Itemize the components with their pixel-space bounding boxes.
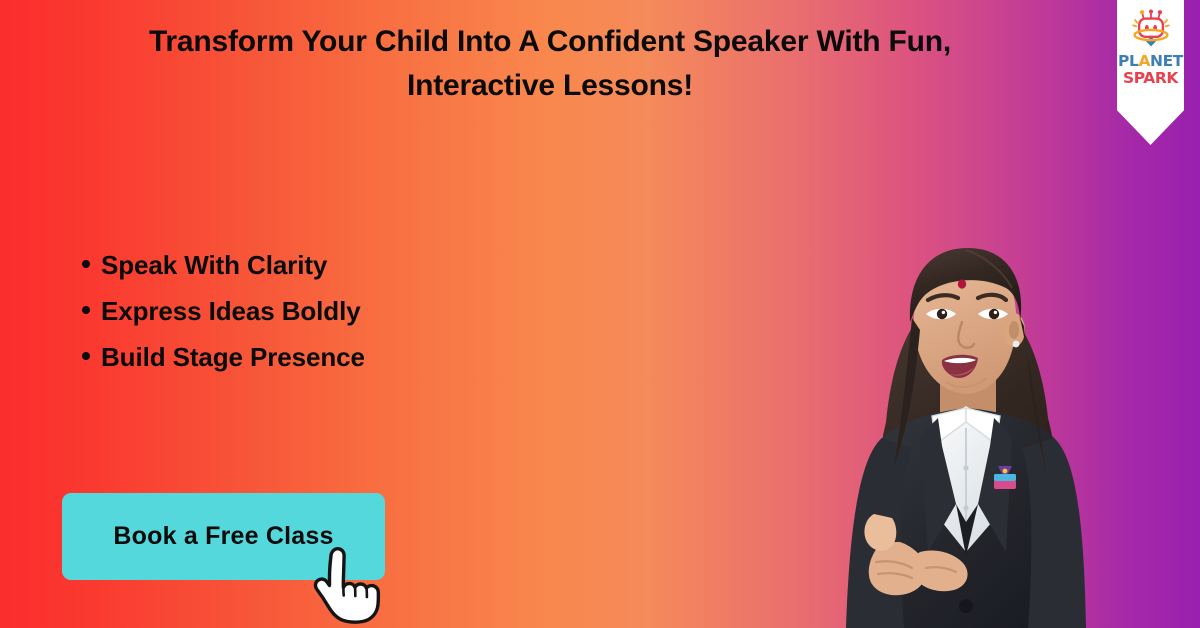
list-item: Express Ideas Boldly <box>82 288 365 334</box>
bullet-dot-icon <box>82 260 90 268</box>
headline-line-1: Transform Your Child Into A Confident Sp… <box>40 20 1060 64</box>
list-item: Build Stage Presence <box>82 334 365 380</box>
promo-banner: Transform Your Child Into A Confident Sp… <box>0 0 1200 628</box>
page-title: Transform Your Child Into A Confident Sp… <box>40 20 1060 108</box>
child-speaker-photo <box>816 222 1120 628</box>
planetspark-logo-ribbon[interactable]: PLANET SPARK <box>1117 0 1184 145</box>
bullet-dot-icon <box>82 306 90 314</box>
list-item: Speak With Clarity <box>82 242 365 288</box>
benefit-label: Speak With Clarity <box>101 242 327 288</box>
planetspark-wordmark: PLANET SPARK <box>1118 54 1183 86</box>
benefit-label: Build Stage Presence <box>101 334 365 380</box>
logo-word-planet: PLANET <box>1118 54 1183 70</box>
bullet-dot-icon <box>82 352 90 360</box>
headline-line-2: Interactive Lessons! <box>40 64 1060 108</box>
benefits-list: Speak With Clarity Express Ideas Boldly … <box>82 242 365 380</box>
logo-word-spark: SPARK <box>1118 71 1183 87</box>
benefit-label: Express Ideas Boldly <box>101 288 361 334</box>
planetspark-robot-icon <box>1129 9 1173 51</box>
book-free-class-button[interactable]: Book a Free Class <box>62 493 385 580</box>
